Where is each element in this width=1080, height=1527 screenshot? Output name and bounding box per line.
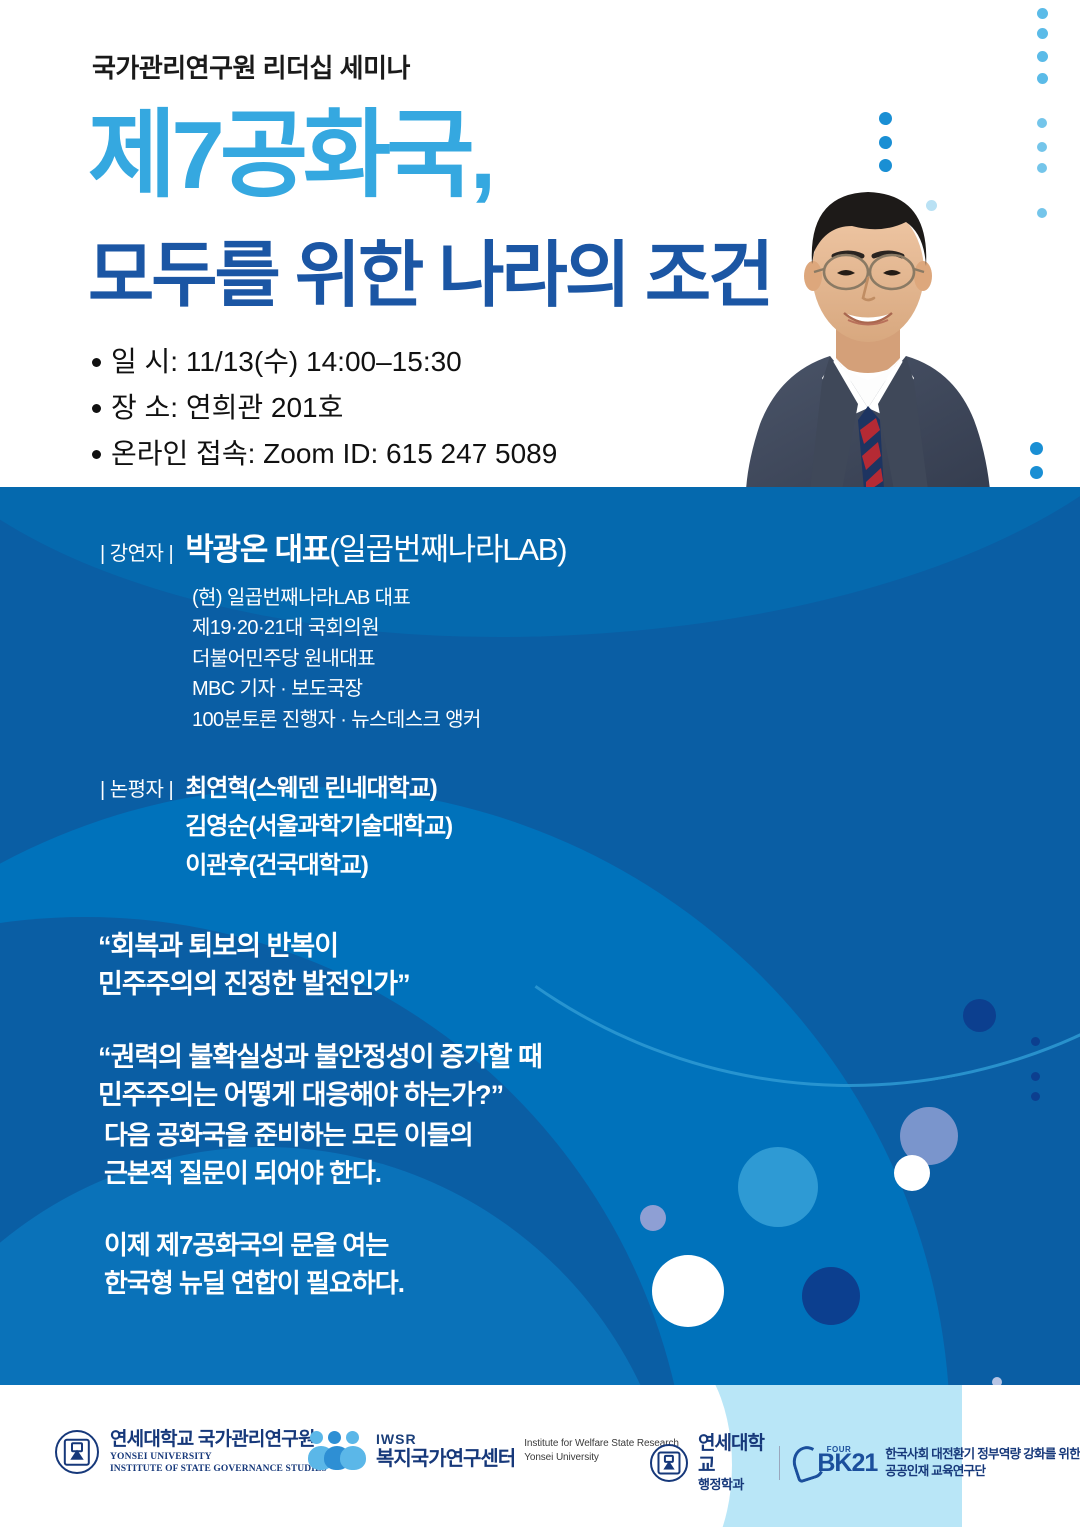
discussants-role-line: | 논평자 | 최연혁(스웨덴 린네대학교) 김영순(서울과학기술대학교) 이관…: [100, 770, 452, 885]
discussant-name: 김영순: [185, 813, 248, 840]
body-line: 다음 공화국을 준비하는 모든 이들의: [104, 1117, 473, 1155]
iwsr-people-icon: [310, 1431, 368, 1471]
speaker-bio-list: (현) 일곱번째나라LAB 대표 제19·20·21대 국회의원 더불어민주당 …: [192, 583, 566, 735]
logo-iwsr-kr: 복지국가연구센터: [376, 1447, 515, 1471]
quotes-section: “회복과 퇴보의 반복이 민주주의의 진정한 발전인가” “권력의 불확실성과 …: [98, 927, 542, 1148]
logo-iwsr-text: IWSR 복지국가연구센터: [376, 1431, 515, 1471]
seal-inner-icon: [71, 1443, 83, 1453]
decor-circle-white-1: [894, 1155, 930, 1191]
decor-dot: [1037, 118, 1047, 128]
body-line: 이제 제7공화국의 문을 여는: [104, 1227, 473, 1265]
decor-circle-cyan-1: [738, 1147, 818, 1227]
decor-dot: [1031, 1072, 1040, 1081]
bk21-description: 한국사회 대전환기 정부역량 강화를 위한 공공인재 교육연구단: [885, 1446, 1080, 1481]
detail-row-date: 일 시: 11/13(수) 14:00–15:30: [92, 348, 557, 376]
discussants-section: | 논평자 | 최연혁(스웨덴 린네대학교) 김영순(서울과학기술대학교) 이관…: [100, 770, 452, 885]
discussant-name: 최연혁: [185, 775, 248, 802]
decor-dot: [1037, 208, 1047, 218]
decor-dot: [1037, 51, 1048, 62]
seminar-poster: | 강연자 | 박광온 대표(일곱번째나라LAB) (현) 일곱번째나라LAB …: [0, 0, 1080, 1527]
quote-line: 민주주의의 진정한 발전인가”: [98, 965, 542, 1003]
bullet-icon: [92, 450, 101, 459]
discussants-list: 최연혁(스웨덴 린네대학교) 김영순(서울과학기술대학교) 이관후(건국대학교): [185, 770, 452, 885]
body-paragraph: 다음 공화국을 준비하는 모든 이들의 근본적 질문이 되어야 한다.: [104, 1117, 473, 1193]
iwsr-head-icon: [328, 1431, 341, 1444]
decor-dot: [1037, 142, 1047, 152]
logo-divider: [779, 1446, 780, 1480]
detail-text: 일 시: 11/13(수) 14:00–15:30: [111, 348, 462, 376]
logo-yonsei-pa-kr1: 연세대학교: [698, 1433, 766, 1477]
decor-circle-white-2: [652, 1255, 724, 1327]
logo-yonsei-isgs-en2: INSTITUTE OF STATE GOVERNANCE STUDIES: [110, 1463, 327, 1475]
decor-dot: [1037, 163, 1047, 173]
decor-dot: [1031, 1092, 1040, 1101]
header-section: 국가관리연구원 리더십 세미나 제7공화국, 모두를 위한 나라의 조건 일 시…: [0, 0, 1080, 487]
speaker-portrait: [718, 168, 1018, 487]
decor-dot: [1030, 466, 1043, 479]
logo-yonsei-isgs: 연세대학교 국가관리연구원 YONSEI UNIVERSITY INSTITUT…: [55, 1429, 327, 1476]
bk21-num: 21: [851, 1449, 877, 1477]
bk21-mark-icon: BK21 FOUR: [793, 1446, 877, 1480]
iwsr-head-icon: [346, 1431, 359, 1444]
discussant-item: 최연혁(스웨덴 린네대학교): [185, 770, 452, 808]
speaker-section: | 강연자 | 박광온 대표(일곱번째나라LAB) (현) 일곱번째나라LAB …: [100, 524, 566, 735]
logo-yonsei-isgs-kr: 연세대학교 국가관리연구원: [110, 1429, 327, 1451]
speaker-role-tag: | 강연자 |: [100, 537, 173, 566]
event-details: 일 시: 11/13(수) 14:00–15:30 장 소: 연희관 201호 …: [92, 348, 557, 486]
logo-yonsei-pa-text: 연세대학교 행정학과: [698, 1433, 766, 1494]
discussant-affiliation: (건국대학교): [248, 852, 367, 879]
quote-item: “권력의 불확실성과 불안정성이 증가할 때 민주주의는 어떻게 대응해야 하는…: [98, 1038, 542, 1115]
detail-row-location: 장 소: 연희관 201호: [92, 394, 557, 422]
bk21-letters: BK21: [817, 1451, 877, 1476]
logo-yonsei-isgs-text: 연세대학교 국가관리연구원 YONSEI UNIVERSITY INSTITUT…: [110, 1429, 327, 1476]
speaker-bio-item: 제19·20·21대 국회의원: [192, 613, 566, 643]
yonsei-seal-icon: [650, 1444, 688, 1482]
seal-inner-icon: [664, 1455, 674, 1463]
page-title-line2: 모두를 위한 나라의 조건: [88, 240, 771, 312]
blue-content-section: | 강연자 | 박광온 대표(일곱번째나라LAB) (현) 일곱번째나라LAB …: [0, 487, 1080, 1385]
detail-text: 장 소: 연희관 201호: [111, 394, 343, 422]
logo-yonsei-pa-kr2: 행정학과: [698, 1477, 766, 1494]
decor-circle-periwinkle: [640, 1205, 666, 1231]
speaker-bio-item: 100분토론 진행자 · 뉴스데스크 앵커: [192, 705, 566, 735]
decor-circle-navy-1: [963, 999, 996, 1032]
decor-dot: [992, 1377, 1002, 1385]
bk21-four-tag: FOUR: [827, 1445, 852, 1454]
body-line: 근본적 질문이 되어야 한다.: [104, 1155, 473, 1193]
bullet-icon: [92, 404, 101, 413]
logo-yonsei-bk21: 연세대학교 행정학과 BK21 FOUR 한국사회 대전환기 정부역량 강화를 …: [650, 1433, 1080, 1494]
page-kicker: 국가관리연구원 리더십 세미나: [92, 48, 410, 85]
logo-iwsr: IWSR 복지국가연구센터 Institute for Welfare Stat…: [310, 1431, 679, 1471]
iwsr-head-icon: [310, 1431, 323, 1444]
decor-dot: [879, 136, 892, 149]
detail-row-online: 온라인 접속: Zoom ID: 615 247 5089: [92, 440, 557, 468]
page-title-line1: 제7공화국,: [88, 108, 491, 204]
decor-dot: [1031, 1037, 1040, 1046]
footer-logos: 연세대학교 국가관리연구원 YONSEI UNIVERSITY INSTITUT…: [0, 1385, 1080, 1527]
speaker-name: 박광온 대표: [185, 532, 329, 567]
body-paragraph: 이제 제7공화국의 문을 여는 한국형 뉴딜 연합이 필요하다.: [104, 1227, 473, 1303]
footer-section: 연세대학교 국가관리연구원 YONSEI UNIVERSITY INSTITUT…: [0, 1385, 1080, 1527]
discussant-item: 이관후(건국대학교): [185, 847, 452, 885]
speaker-role-line: | 강연자 | 박광온 대표(일곱번째나라LAB): [100, 524, 566, 569]
quote-item: “회복과 퇴보의 반복이 민주주의의 진정한 발전인가”: [98, 927, 542, 1004]
speaker-name-wrap: 박광온 대표(일곱번째나라LAB): [185, 524, 566, 569]
discussant-name: 이관후: [185, 852, 248, 879]
bk21-desc-line2: 공공인재 교육연구단: [885, 1463, 1080, 1481]
decor-dot: [1037, 28, 1048, 39]
bk21-desc-line1: 한국사회 대전환기 정부역량 강화를 위한: [885, 1446, 1080, 1464]
yonsei-seal-icon: [55, 1430, 99, 1474]
decor-circle-navy-3: [802, 1267, 860, 1325]
decor-dot: [1037, 73, 1048, 84]
speaker-bio-item: MBC 기자 · 보도국장: [192, 674, 566, 704]
speaker-bio-item: 더불어민주당 원내대표: [192, 644, 566, 674]
decor-dot: [1030, 442, 1043, 455]
discussant-affiliation: (서울과학기술대학교): [248, 813, 452, 840]
quote-line: “권력의 불확실성과 불안정성이 증가할 때: [98, 1038, 542, 1076]
logo-yonsei-isgs-en1: YONSEI UNIVERSITY: [110, 1451, 327, 1463]
bullet-icon: [92, 358, 101, 367]
iwsr-body-icon: [340, 1446, 366, 1470]
detail-text: 온라인 접속: Zoom ID: 615 247 5089: [111, 440, 557, 468]
decor-dot: [879, 112, 892, 125]
body-text-section: 다음 공화국을 준비하는 모든 이들의 근본적 질문이 되어야 한다. 이제 제…: [104, 1117, 473, 1337]
body-line: 한국형 뉴딜 연합이 필요하다.: [104, 1265, 473, 1303]
speaker-affiliation: (일곱번째나라LAB): [329, 532, 566, 567]
discussant-affiliation: (스웨덴 린네대학교): [248, 775, 436, 802]
logo-iwsr-abbr: IWSR: [376, 1431, 515, 1447]
quote-line: 민주주의는 어떻게 대응해야 하는가?”: [98, 1076, 542, 1114]
quote-line: “회복과 퇴보의 반복이: [98, 927, 542, 965]
discussant-item: 김영순(서울과학기술대학교): [185, 808, 452, 846]
speaker-bio-item: (현) 일곱번째나라LAB 대표: [192, 583, 566, 613]
discussants-role-tag: | 논평자 |: [100, 773, 173, 802]
decor-dot: [1037, 8, 1048, 19]
